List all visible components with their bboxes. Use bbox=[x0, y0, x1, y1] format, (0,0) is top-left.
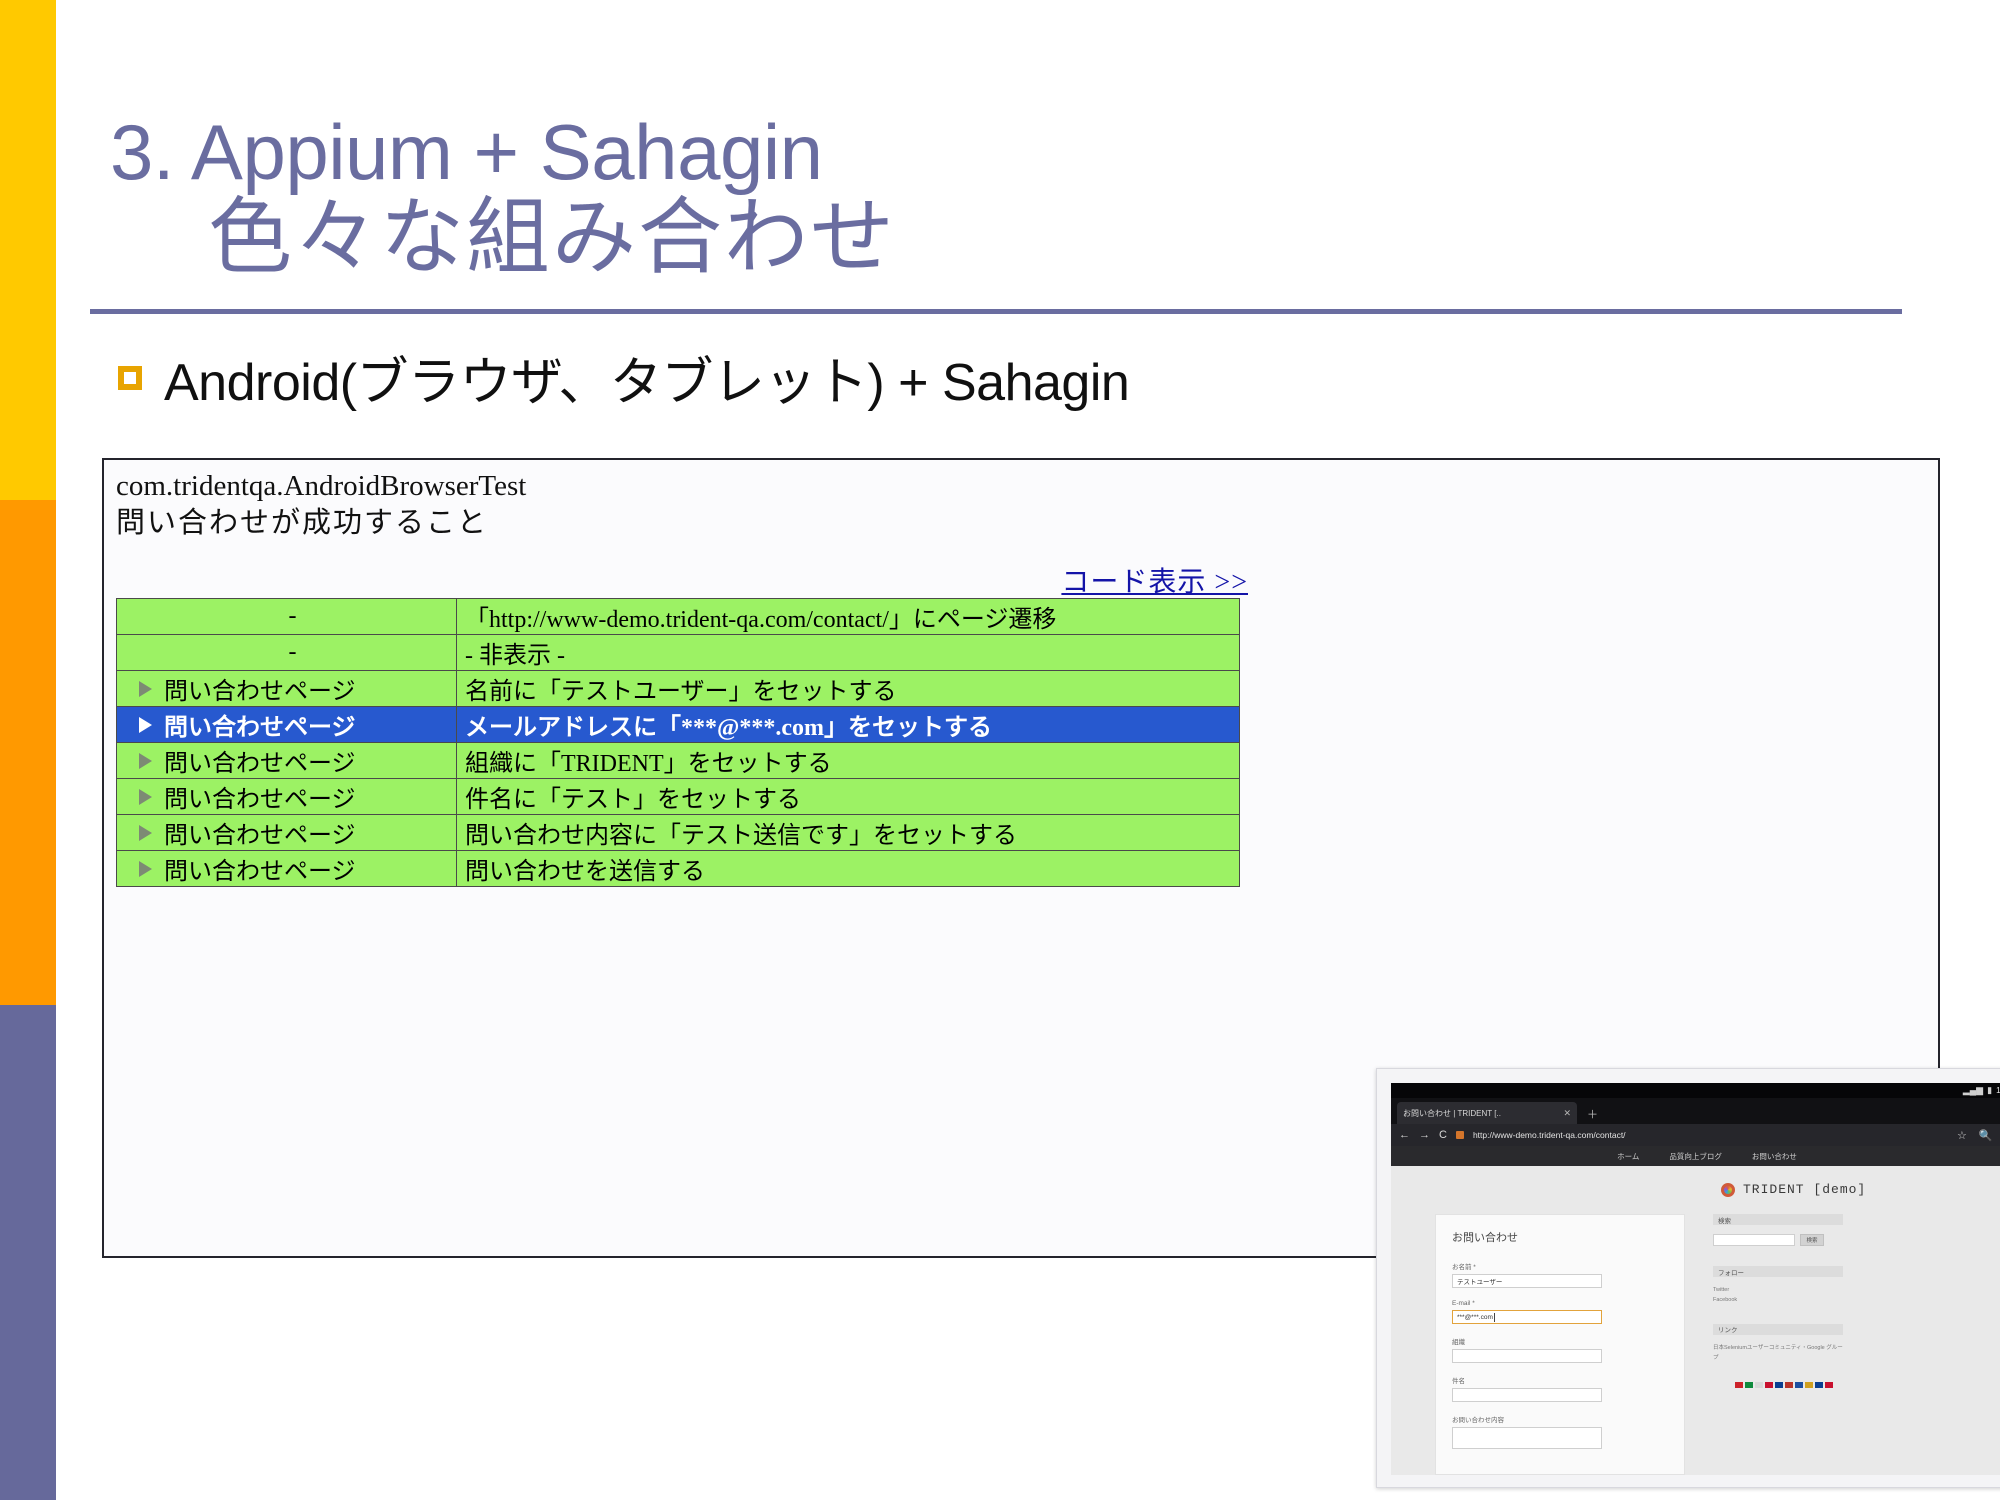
new-tab-icon[interactable]: ＋ bbox=[1587, 1106, 1598, 1122]
url-text[interactable]: http://www-demo.trident-qa.com/contact/ bbox=[1473, 1130, 1948, 1140]
step-page-label: 問い合わせページ bbox=[164, 707, 356, 742]
field-label: 組織 bbox=[1452, 1336, 1668, 1346]
flag-icon[interactable] bbox=[1775, 1382, 1783, 1388]
step-action-label: 問い合わせを送信する bbox=[465, 859, 705, 885]
expand-triangle-icon[interactable] bbox=[139, 717, 152, 733]
step-page-cell: - bbox=[117, 635, 457, 671]
accent-bar-purple bbox=[0, 1005, 56, 1500]
slide-title-line1: 3. Appium + Sahagin bbox=[110, 108, 823, 196]
step-action-label: 問い合わせ内容に「テスト送信です」をセットする bbox=[465, 823, 1017, 849]
field-value: ***@***.com bbox=[1457, 1314, 1493, 1321]
step-page-cell: 問い合わせページ bbox=[117, 671, 457, 707]
expand-triangle-icon[interactable] bbox=[139, 825, 152, 841]
text-caret bbox=[1494, 1313, 1495, 1322]
step-page-label: 問い合わせページ bbox=[164, 815, 356, 850]
site-nav: ホーム 品質向上ブログ お問い合わせ bbox=[1391, 1146, 2000, 1166]
contact-form-card: お問い合わせ お名前 *テストユーザーE-mail ****@***.com組織… bbox=[1435, 1214, 1685, 1475]
step-action-cell: 名前に「テストユーザー」をセットする bbox=[457, 671, 1240, 707]
browser-tab-strip: お問い合わせ | TRIDENT [.. ✕ ＋ ⋮ bbox=[1391, 1098, 2000, 1124]
step-action-cell: 件名に「テスト」をセットする bbox=[457, 779, 1240, 815]
table-row[interactable]: 問い合わせページ問い合わせ内容に「テスト送信です」をセットする bbox=[117, 815, 1240, 851]
expand-triangle-icon[interactable] bbox=[139, 789, 152, 805]
flag-icon[interactable] bbox=[1735, 1382, 1743, 1388]
sidebar-search-input[interactable] bbox=[1713, 1234, 1795, 1246]
flag-icon[interactable] bbox=[1765, 1382, 1773, 1388]
table-row[interactable]: 問い合わせページ組織に「TRIDENT」をセットする bbox=[117, 743, 1240, 779]
step-page-cell: 問い合わせページ bbox=[117, 815, 457, 851]
browser-omnibox-bar: ← → C http://www-demo.trident-qa.com/con… bbox=[1391, 1124, 2000, 1146]
step-page-cell: 問い合わせページ bbox=[117, 851, 457, 887]
back-icon[interactable]: ← bbox=[1399, 1129, 1410, 1141]
sidebar-follow-items[interactable]: Twitter Facebook bbox=[1713, 1286, 1843, 1306]
star-icon[interactable]: ☆ bbox=[1957, 1129, 1967, 1142]
android-status-bar: ▂▄▆ ▮ 11:13 bbox=[1391, 1083, 2000, 1098]
accent-bar-yellow bbox=[0, 0, 56, 500]
field-input[interactable] bbox=[1452, 1388, 1602, 1402]
flag-icon[interactable] bbox=[1815, 1382, 1823, 1388]
step-action-cell: 問い合わせを送信する bbox=[457, 851, 1240, 887]
slide-title: 3. Appium + Sahagin 色々な組み合わせ bbox=[110, 28, 1610, 365]
trident-logo-icon bbox=[1721, 1183, 1735, 1197]
reload-icon[interactable]: C bbox=[1439, 1129, 1447, 1141]
step-page-cell: 問い合わせページ bbox=[117, 779, 457, 815]
step-action-cell: 問い合わせ内容に「テスト送信です」をセットする bbox=[457, 815, 1240, 851]
sidebar-heading-follow: フォロー bbox=[1713, 1266, 1843, 1277]
page-sidebar: 検索 検索 フォロー Twitter Facebook リンク 日本Seleni… bbox=[1713, 1214, 1843, 1388]
field-input[interactable] bbox=[1452, 1349, 1602, 1363]
test-class-name: com.tridentqa.AndroidBrowserTest bbox=[116, 468, 526, 505]
site-nav-item-1[interactable]: 品質向上ブログ bbox=[1669, 1151, 1722, 1162]
table-row[interactable]: 問い合わせページ名前に「テストユーザー」をセットする bbox=[117, 671, 1240, 707]
close-icon[interactable]: ✕ bbox=[1563, 1108, 1571, 1119]
sidebar-heading-links: リンク bbox=[1713, 1324, 1843, 1335]
field-input[interactable]: テストユーザー bbox=[1452, 1274, 1602, 1288]
site-logo-text: TRIDENT [demo] bbox=[1743, 1182, 1866, 1197]
step-page-label: - bbox=[289, 639, 297, 666]
sidebar-links-text[interactable]: 日本Seleniumユーザーコミュニティ・Google グループ bbox=[1713, 1344, 1843, 1364]
site-nav-item-2[interactable]: お問い合わせ bbox=[1752, 1151, 1797, 1162]
language-flags[interactable] bbox=[1713, 1382, 1843, 1388]
title-divider bbox=[90, 309, 1902, 314]
expand-triangle-icon[interactable] bbox=[139, 681, 152, 697]
search-icon[interactable]: 🔍 bbox=[1979, 1129, 1993, 1142]
bullet-square-icon bbox=[118, 366, 142, 390]
field-label: お問い合わせ内容 bbox=[1452, 1414, 1668, 1424]
report-panel: com.tridentqa.AndroidBrowserTest 問い合わせが成… bbox=[102, 458, 1940, 1258]
browser-tab[interactable]: お問い合わせ | TRIDENT [.. ✕ bbox=[1397, 1102, 1577, 1124]
step-action-label: 組織に「TRIDENT」をセットする bbox=[465, 751, 832, 777]
step-page-label: 問い合わせページ bbox=[164, 851, 356, 886]
battery-icon: ▮ bbox=[1987, 1086, 1992, 1095]
flag-icon[interactable] bbox=[1755, 1382, 1763, 1388]
expand-triangle-icon[interactable] bbox=[139, 861, 152, 877]
report-header: com.tridentqa.AndroidBrowserTest 問い合わせが成… bbox=[116, 468, 526, 542]
form-heading: お問い合わせ bbox=[1452, 1229, 1668, 1245]
forward-icon[interactable]: → bbox=[1419, 1129, 1430, 1141]
device-screen: ▂▄▆ ▮ 11:13 お問い合わせ | TRIDENT [.. ✕ ＋ ⋮ ←… bbox=[1391, 1083, 2000, 1475]
sidebar-search-button[interactable]: 検索 bbox=[1800, 1234, 1824, 1246]
field-label: E-mail * bbox=[1452, 1300, 1668, 1307]
web-page-body: TRIDENT [demo] お問い合わせ お名前 *テストユーザーE-mail… bbox=[1391, 1166, 2000, 1475]
step-action-label: - 非表示 - bbox=[465, 643, 565, 669]
table-row[interactable]: 問い合わせページメールアドレスに「***@***.com」をセットする bbox=[117, 707, 1240, 743]
step-action-label: 件名に「テスト」をセットする bbox=[465, 787, 801, 813]
step-page-label: 問い合わせページ bbox=[164, 671, 356, 706]
test-description: 問い合わせが成功すること bbox=[116, 505, 526, 542]
flag-icon[interactable] bbox=[1795, 1382, 1803, 1388]
flag-icon[interactable] bbox=[1745, 1382, 1753, 1388]
step-page-cell: 問い合わせページ bbox=[117, 743, 457, 779]
field-label: 件名 bbox=[1452, 1375, 1668, 1385]
step-page-label: - bbox=[289, 603, 297, 630]
device-screenshot: ▂▄▆ ▮ 11:13 お問い合わせ | TRIDENT [.. ✕ ＋ ⋮ ←… bbox=[1376, 1068, 2000, 1488]
sidebar-search-row: 検索 bbox=[1713, 1234, 1843, 1246]
show-code-link[interactable]: コード表示 >> bbox=[1061, 560, 1248, 600]
step-page-label: 問い合わせページ bbox=[164, 779, 356, 814]
step-action-label: メールアドレスに「***@***.com」をセットする bbox=[465, 715, 992, 741]
table-row[interactable]: 問い合わせページ問い合わせを送信する bbox=[117, 851, 1240, 887]
site-nav-item-0[interactable]: ホーム bbox=[1617, 1151, 1639, 1162]
table-row[interactable]: -「http://www-demo.trident-qa.com/contact… bbox=[117, 599, 1240, 635]
table-row[interactable]: 問い合わせページ件名に「テスト」をセットする bbox=[117, 779, 1240, 815]
slide-title-line2: 色々な組み合わせ bbox=[110, 193, 1610, 282]
site-logo: TRIDENT [demo] bbox=[1721, 1182, 1866, 1197]
signal-icon: ▂▄▆ bbox=[1963, 1086, 1983, 1095]
bullet-label: Android(ブラウザ、タブレット) + Sahagin bbox=[164, 340, 1129, 415]
sidebar-heading-search: 検索 bbox=[1713, 1214, 1843, 1225]
field-input[interactable] bbox=[1452, 1427, 1602, 1449]
accent-bar-orange bbox=[0, 500, 56, 1005]
step-action-label: 名前に「テストユーザー」をセットする bbox=[465, 679, 897, 705]
steps-table: -「http://www-demo.trident-qa.com/contact… bbox=[116, 598, 1240, 887]
favicon-icon bbox=[1456, 1131, 1464, 1139]
omnibox-actions: ☆ 🔍 ▤ bbox=[1957, 1129, 2000, 1142]
step-action-label: 「http://www-demo.trident-qa.com/contact/… bbox=[465, 607, 1056, 633]
flag-icon[interactable] bbox=[1785, 1382, 1793, 1388]
flag-icon[interactable] bbox=[1805, 1382, 1813, 1388]
field-value: テストユーザー bbox=[1457, 1276, 1502, 1286]
step-page-cell: 問い合わせページ bbox=[117, 707, 457, 743]
step-page-cell: - bbox=[117, 599, 457, 635]
browser-tab-title: お問い合わせ | TRIDENT [.. bbox=[1403, 1108, 1557, 1119]
step-page-label: 問い合わせページ bbox=[164, 743, 356, 778]
flag-icon[interactable] bbox=[1825, 1382, 1833, 1388]
step-action-cell: 「http://www-demo.trident-qa.com/contact/… bbox=[457, 599, 1240, 635]
step-action-cell: - 非表示 - bbox=[457, 635, 1240, 671]
bullet-row: Android(ブラウザ、タブレット) + Sahagin bbox=[118, 340, 1129, 415]
field-input[interactable]: ***@***.com bbox=[1452, 1310, 1602, 1324]
expand-triangle-icon[interactable] bbox=[139, 753, 152, 769]
field-label: お名前 * bbox=[1452, 1261, 1668, 1271]
status-clock: 11:13 bbox=[1996, 1086, 2000, 1095]
table-row[interactable]: -- 非表示 - bbox=[117, 635, 1240, 671]
step-action-cell: 組織に「TRIDENT」をセットする bbox=[457, 743, 1240, 779]
step-action-cell: メールアドレスに「***@***.com」をセットする bbox=[457, 707, 1240, 743]
